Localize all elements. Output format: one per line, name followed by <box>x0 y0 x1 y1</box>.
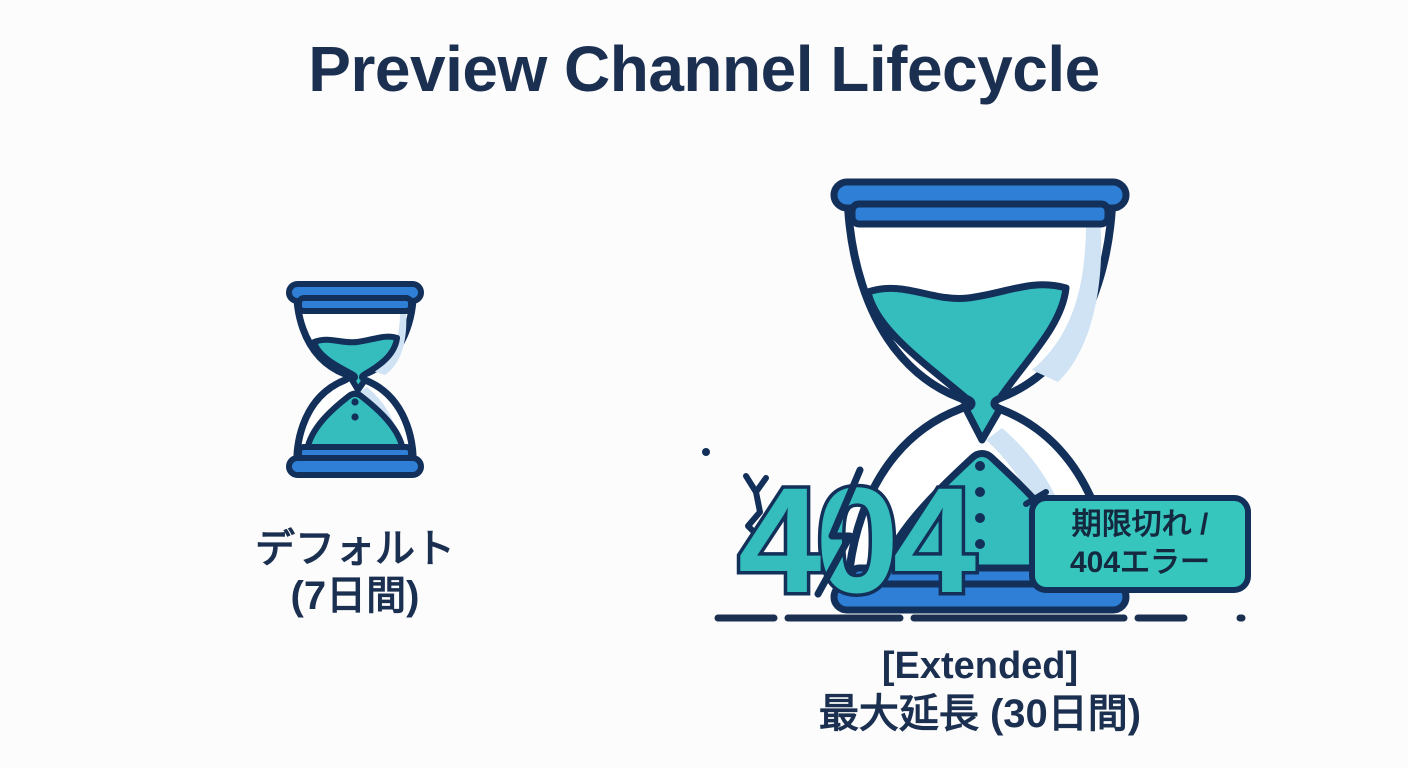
sand-grain-icon <box>975 513 985 523</box>
page-title: Preview Channel Lifecycle <box>0 36 1408 103</box>
extended-lifecycle-group: 404 期限切れ / 404エラー [Extended] 最大延長 (30日間) <box>700 140 1260 738</box>
default-lifecycle-group: デフォルト (7日間) <box>185 250 525 620</box>
extended-label-line1: [Extended] <box>700 644 1260 690</box>
sand-grain-icon <box>975 539 985 549</box>
crack-speck-icon <box>702 448 710 456</box>
sand-grain-icon <box>975 461 985 471</box>
default-label-line2: (7日間) <box>185 573 525 620</box>
error-code-404: 404 <box>702 448 976 624</box>
badge-line2: 404エラー <box>1070 546 1210 579</box>
default-label-line1: デフォルト <box>255 527 455 571</box>
default-lifecycle-label: デフォルト (7日間) <box>185 526 525 620</box>
expiry-badge: 期限切れ / 404エラー <box>1026 492 1248 590</box>
extended-label-line2: 最大延長 (30日間) <box>700 690 1260 738</box>
diagram-canvas: Preview Channel Lifecycle <box>0 0 1408 768</box>
sand-grain-icon <box>351 413 358 420</box>
badge-line1: 期限切れ / <box>1072 508 1209 541</box>
sand-grain-icon <box>975 487 985 497</box>
sand-grain-icon <box>351 398 358 405</box>
cap-top-inner <box>299 298 411 311</box>
hourglass-extended-icon: 404 期限切れ / 404エラー <box>700 140 1260 630</box>
cap-top-inner <box>852 204 1108 224</box>
hourglass-default-icon <box>185 250 525 500</box>
cap-bottom-outer <box>289 458 421 475</box>
extended-lifecycle-label: [Extended] 最大延長 (30日間) <box>700 644 1260 738</box>
